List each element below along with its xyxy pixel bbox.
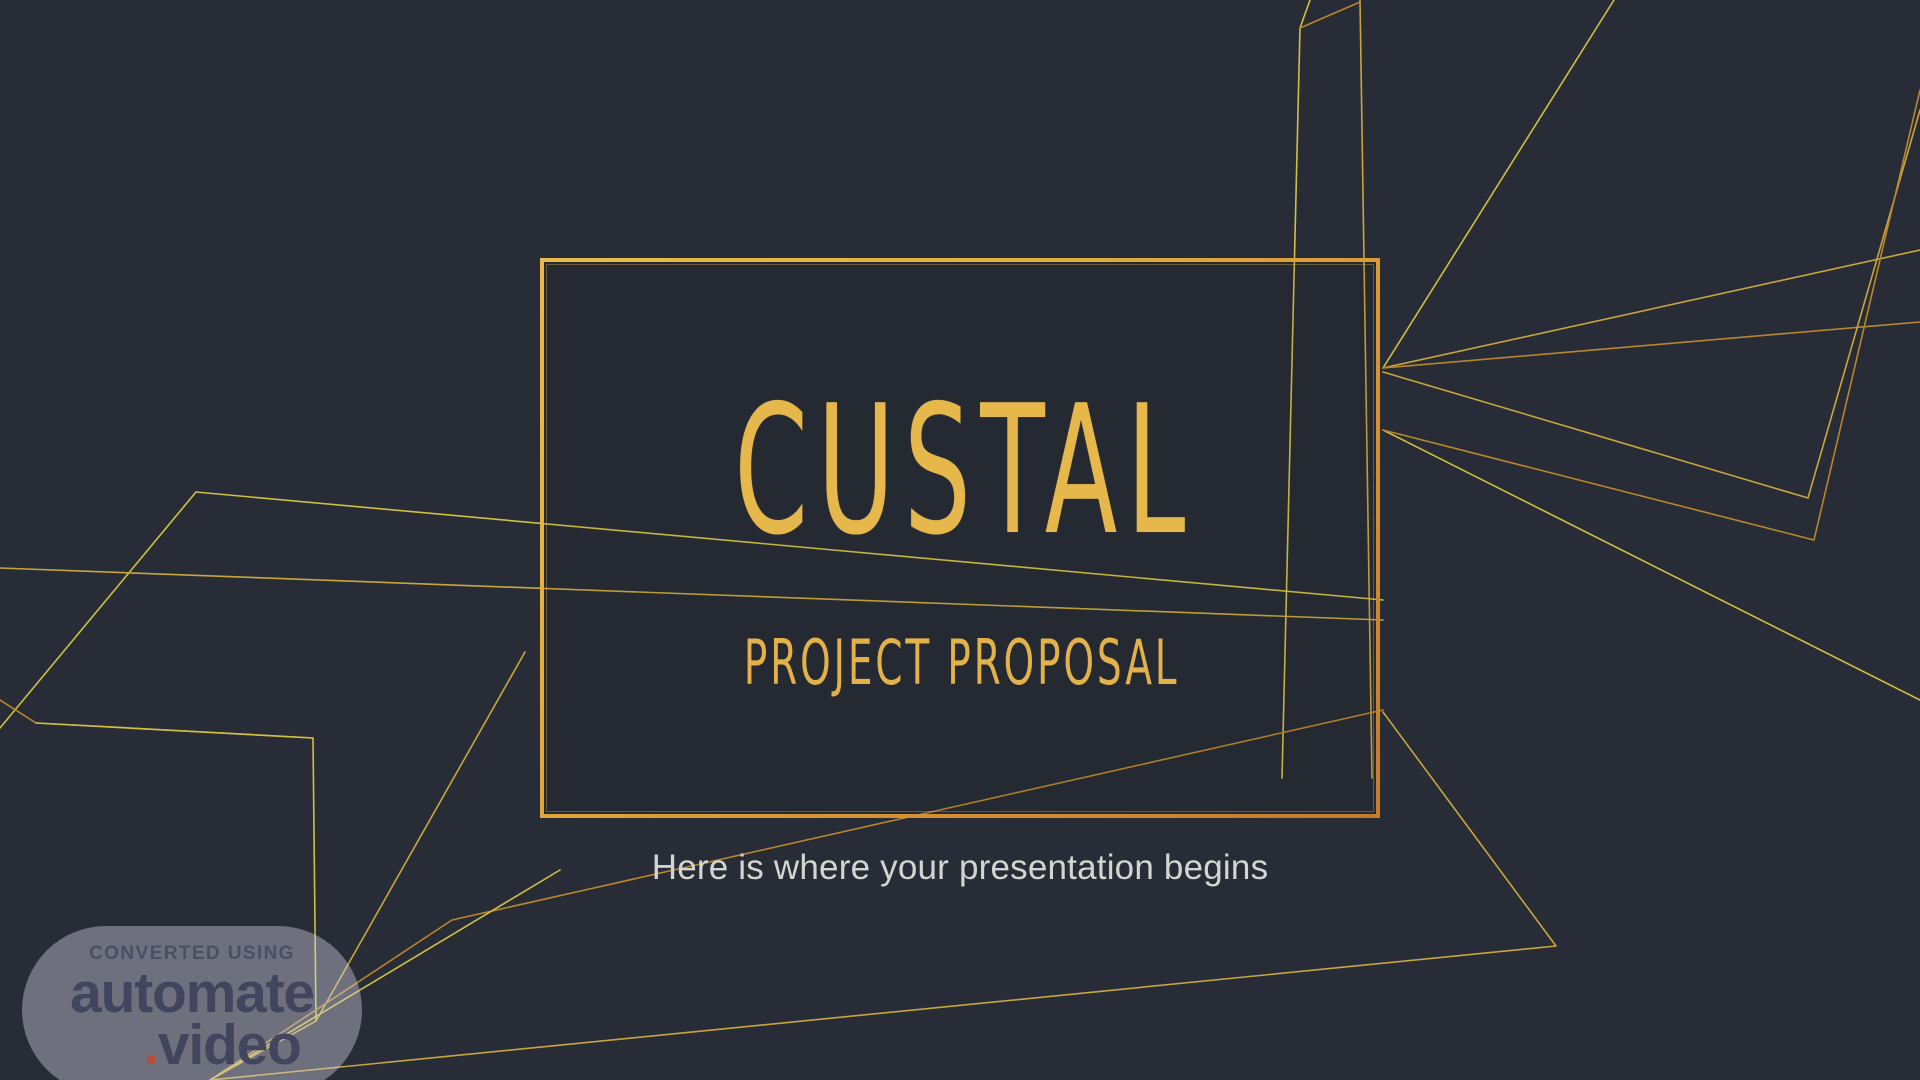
page-title: CUSTAL [725,382,1195,560]
line-art-top-wedge-cap [1300,2,1360,28]
line-art-left-box-top [0,700,313,738]
page-subtitle: PROJECT PROPOSAL [741,632,1179,694]
slide-canvas: CUSTAL PROJECT PROPOSAL Here is where yo… [0,0,1920,1080]
line-art-ray-lower-right [1383,430,1920,700]
caption-text: Here is where your presentation begins [0,848,1920,888]
watermark-badge: CONVERTED USING automate .video [22,926,362,1080]
watermark-brand: automate [70,967,314,1019]
line-art-ray-upper-right [1383,0,1614,368]
watermark-suffix-label: video [158,1013,301,1077]
watermark-dot: . [143,1013,158,1077]
line-art-kite-right-2 [1383,90,1920,540]
line-art-ray-right-mid [1383,322,1920,368]
watermark-suffix: .video [143,1019,301,1071]
line-art-kite-right [1383,110,1920,498]
line-art-ray-far-right [1383,250,1920,368]
title-card: CUSTAL PROJECT PROPOSAL [540,258,1380,818]
